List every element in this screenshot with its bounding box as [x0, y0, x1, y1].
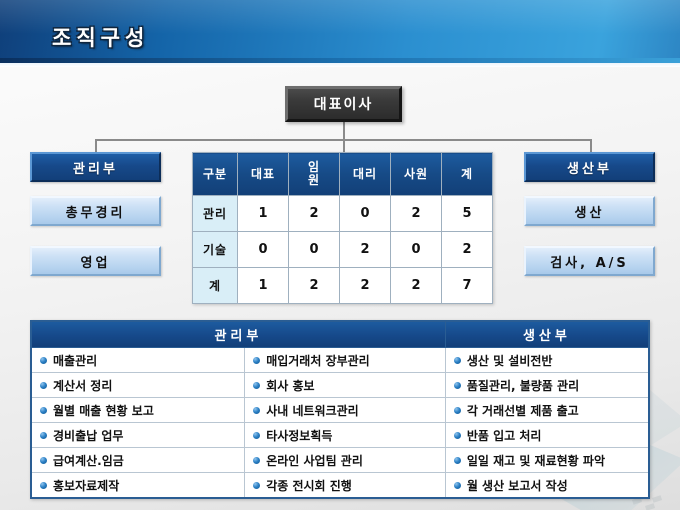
bullet-icon — [40, 407, 47, 414]
staffing-table-header-row: 구분 대표 임원 대리 사원 계 — [193, 153, 493, 196]
staffing-header-staff: 사원 — [391, 153, 442, 196]
page-title: 조직구성 — [52, 22, 149, 52]
bullet-icon — [40, 457, 47, 464]
duties-cell: 급여계산.임금 — [31, 448, 245, 473]
bullet-icon — [454, 382, 461, 389]
staffing-header-gubun: 구분 — [193, 153, 238, 196]
duties-cell: 매출관리 — [31, 348, 245, 373]
staffing-row-label: 기술 — [193, 232, 238, 268]
staffing-row-label: 관리 — [193, 196, 238, 232]
duties-header-management: 관리부 — [31, 321, 445, 348]
bullet-icon — [454, 457, 461, 464]
staffing-cell: 2 — [289, 268, 340, 304]
dept-box-inspection-as[interactable]: 검사, A/S — [524, 246, 655, 276]
staffing-cell: 2 — [391, 268, 442, 304]
duties-cell: 품질관리, 불량품 관리 — [445, 373, 649, 398]
header-edge-light — [0, 63, 680, 67]
duties-cell: 매입거래처 장부관리 — [245, 348, 446, 373]
dept-box-production[interactable]: 생산 — [524, 196, 655, 226]
duties-cell: 월 생산 보고서 작성 — [445, 473, 649, 499]
bullet-icon — [454, 432, 461, 439]
duties-cell: 온라인 사업팀 관리 — [245, 448, 446, 473]
dept-box-sales[interactable]: 영업 — [30, 246, 161, 276]
table-row: 경비출납 업무 타사정보획득 반품 입고 처리 — [31, 423, 649, 448]
duties-cell: 일일 재고 및 재료현황 파악 — [445, 448, 649, 473]
staffing-cell: 7 — [442, 268, 493, 304]
table-row: 월별 매출 현황 보고 사내 네트워크관리 각 거래선별 제품 출고 — [31, 398, 649, 423]
connector-left-drop — [95, 139, 97, 153]
connector-center-drop — [343, 139, 345, 153]
bullet-icon — [40, 432, 47, 439]
table-row: 기술 0 0 2 0 2 — [193, 232, 493, 268]
bullet-icon — [253, 407, 260, 414]
ceo-box[interactable]: 대표이사 — [285, 86, 402, 122]
staffing-cell: 2 — [289, 196, 340, 232]
staffing-cell: 2 — [340, 268, 391, 304]
bullet-icon — [253, 432, 260, 439]
bullet-icon — [253, 357, 260, 364]
dept-box-management[interactable]: 관리부 — [30, 152, 161, 182]
bullet-icon — [454, 357, 461, 364]
staffing-cell: 5 — [442, 196, 493, 232]
connector-right-drop — [590, 139, 592, 153]
duties-cell: 반품 입고 처리 — [445, 423, 649, 448]
table-row: 매출관리 매입거래처 장부관리 생산 및 설비전반 — [31, 348, 649, 373]
duties-cell: 회사 홍보 — [245, 373, 446, 398]
staffing-cell: 2 — [340, 232, 391, 268]
duties-cell: 각종 전시회 진행 — [245, 473, 446, 499]
duties-cell: 월별 매출 현황 보고 — [31, 398, 245, 423]
staffing-header-ceo: 대표 — [238, 153, 289, 196]
staffing-header-deputy: 대리 — [340, 153, 391, 196]
staffing-cell: 0 — [391, 232, 442, 268]
duties-cell: 각 거래선별 제품 출고 — [445, 398, 649, 423]
duties-cell: 홍보자료제작 — [31, 473, 245, 499]
bullet-icon — [253, 457, 260, 464]
bullet-icon — [253, 482, 260, 489]
staffing-cell: 2 — [391, 196, 442, 232]
duties-table: 관리부 생산부 매출관리 매입거래처 장부관리 생산 및 설비전반 계산서 정리… — [30, 320, 650, 499]
slide-canvas: 1010101011011100111101011100101000 01010… — [0, 0, 680, 510]
bullet-icon — [454, 407, 461, 414]
bullet-icon — [253, 382, 260, 389]
table-row: 관리 1 2 0 2 5 — [193, 196, 493, 232]
duties-header-row: 관리부 생산부 — [31, 321, 649, 348]
duties-cell: 계산서 정리 — [31, 373, 245, 398]
table-row: 홍보자료제작 각종 전시회 진행 월 생산 보고서 작성 — [31, 473, 649, 499]
staffing-header-total: 계 — [442, 153, 493, 196]
connector-ceo-stem — [343, 122, 345, 140]
staffing-table: 구분 대표 임원 대리 사원 계 관리 1 2 0 2 5 기술 0 0 2 — [192, 152, 493, 304]
staffing-cell: 0 — [340, 196, 391, 232]
table-row: 급여계산.임금 온라인 사업팀 관리 일일 재고 및 재료현황 파악 — [31, 448, 649, 473]
bullet-icon — [454, 482, 461, 489]
bullet-icon — [40, 482, 47, 489]
table-row: 계 1 2 2 2 7 — [193, 268, 493, 304]
staffing-row-label: 계 — [193, 268, 238, 304]
staffing-header-exec: 임원 — [289, 153, 340, 196]
dept-box-general-affairs[interactable]: 총무경리 — [30, 196, 161, 226]
duties-cell: 사내 네트워크관리 — [245, 398, 446, 423]
duties-header-production: 생산부 — [445, 321, 649, 348]
staffing-cell: 1 — [238, 268, 289, 304]
bullet-icon — [40, 357, 47, 364]
staffing-cell: 2 — [442, 232, 493, 268]
staffing-cell: 0 — [289, 232, 340, 268]
staffing-cell: 0 — [238, 232, 289, 268]
duties-cell: 타사정보획득 — [245, 423, 446, 448]
duties-cell: 생산 및 설비전반 — [445, 348, 649, 373]
dept-box-production-dept[interactable]: 생산부 — [524, 152, 655, 182]
bullet-icon — [40, 382, 47, 389]
duties-cell: 경비출납 업무 — [31, 423, 245, 448]
staffing-cell: 1 — [238, 196, 289, 232]
table-row: 계산서 정리 회사 홍보 품질관리, 불량품 관리 — [31, 373, 649, 398]
